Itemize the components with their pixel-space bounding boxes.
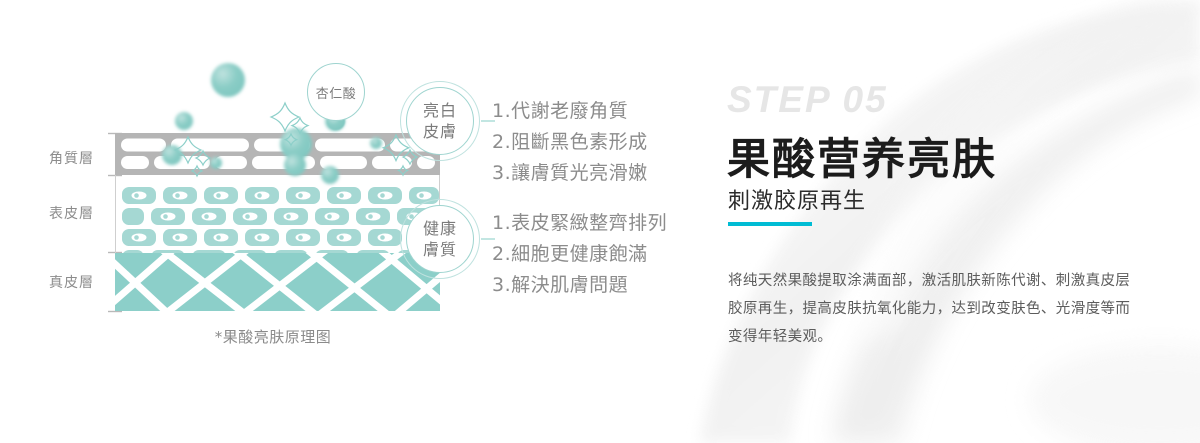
callout-bright-skin-line2: 皮膚 [423, 121, 457, 142]
layer-label-dermis: 真皮層 [49, 272, 94, 292]
bright-skin-benefit-list: 1.代謝老廢角質 2.阻斷黑色素形成 3.讓膚質光亮滑嫩 [492, 96, 648, 189]
right-content-panel: STEP 05 果酸营养亮肤 刺激胶原再生 将纯天然果酸提取涂满面部，激活肌肤新… [727, 0, 1187, 443]
callout-healthy-skin-line1: 健康 [423, 218, 457, 239]
callout-bright-skin-line1: 亮白 [423, 100, 457, 121]
page-root: 角質層 表皮層 真皮層 杏仁酸 亮白 皮膚 健康 膚質 *果酸亮肤原理图 1.代… [0, 0, 1200, 443]
list-item: 3.讓膚質光亮滑嫩 [492, 158, 648, 189]
list-item: 3.解決肌膚問題 [492, 270, 667, 301]
callout-bright-skin-text: 亮白 皮膚 [423, 100, 457, 142]
layer-label-epidermis: 表皮層 [49, 203, 94, 223]
list-item: 2.細胞更健康飽滿 [492, 239, 667, 270]
callout-bubble-bright-skin: 亮白 皮膚 [406, 87, 474, 155]
callout-healthy-skin-line2: 膚質 [423, 239, 457, 260]
callout-ingredient-label: 杏仁酸 [316, 83, 357, 102]
callout-bubble-healthy-skin: 健康 膚質 [406, 205, 474, 273]
list-item: 2.阻斷黑色素形成 [492, 127, 648, 158]
diagram-caption: *果酸亮肤原理图 [118, 326, 428, 347]
callout-healthy-skin-text: 健康 膚質 [423, 218, 457, 260]
page-subtitle: 刺激胶原再生 [728, 183, 866, 215]
layer-label-corneum: 角質層 [49, 148, 94, 168]
healthy-skin-benefit-list: 1.表皮緊緻整齊排列 2.細胞更健康飽滿 3.解決肌膚問題 [492, 208, 667, 301]
callout-bubble-ingredient: 杏仁酸 [307, 63, 365, 121]
list-item: 1.代謝老廢角質 [492, 96, 648, 127]
page-title: 果酸营养亮肤 [727, 125, 997, 187]
list-item: 1.表皮緊緻整齊排列 [492, 208, 667, 239]
body-paragraph: 将纯天然果酸提取涂满面部，激活肌肤新陈代谢、刺激真皮层胶原再生，提高皮肤抗氧化能… [728, 267, 1138, 351]
step-label: STEP 05 [727, 79, 888, 121]
accent-underline [728, 222, 812, 226]
